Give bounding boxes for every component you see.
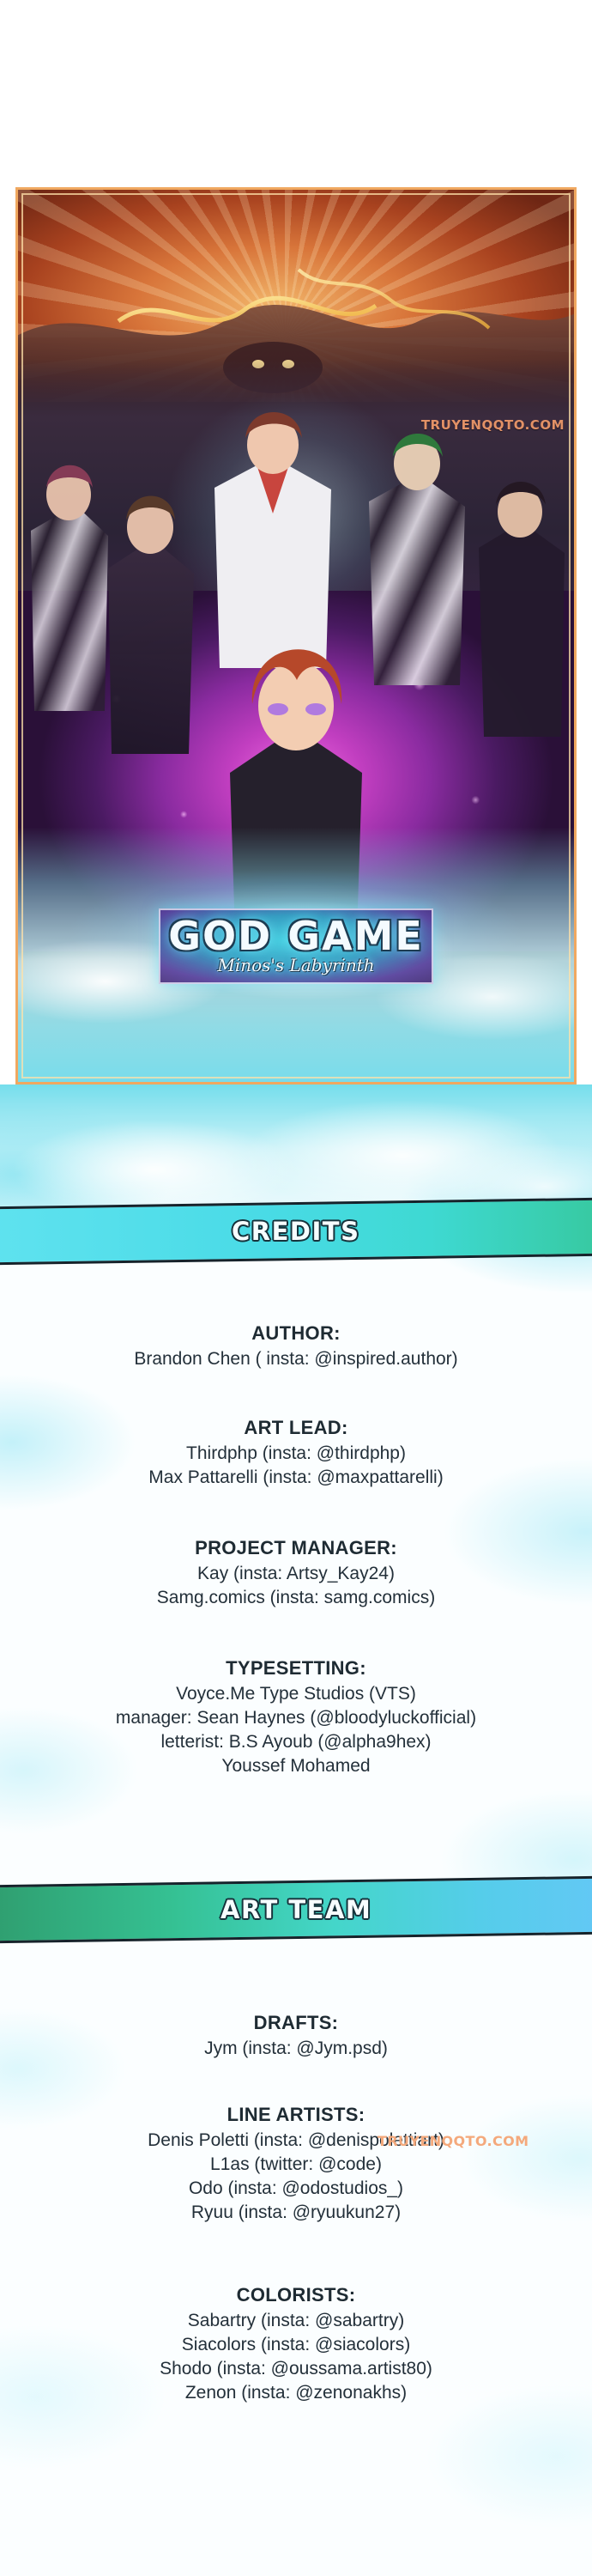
credit-block-line-artists: LINE ARTISTS: Denis Poletti (insta: @den…	[0, 2104, 592, 2225]
credit-block-art-lead: ART LEAD: Thirdphp (insta: @thirdphp) Ma…	[0, 1417, 592, 1490]
credit-line: Thirdphp (insta: @thirdphp)	[0, 1442, 592, 1466]
banner-bar: ART TEAM	[0, 1876, 592, 1944]
credit-block-author: AUTHOR: Brandon Chen ( insta: @inspired.…	[0, 1322, 592, 1371]
credit-heading: ART LEAD:	[0, 1417, 592, 1439]
banner-label-art-team: ART TEAM	[220, 1895, 372, 1924]
credit-heading: PROJECT MANAGER:	[0, 1537, 592, 1559]
credit-block-colorists: COLORISTS: Sabartry (insta: @sabartry) S…	[0, 2284, 592, 2405]
credit-block-typesetting: TYPESETTING: Voyce.Me Type Studios (VTS)…	[0, 1657, 592, 1778]
credit-heading: COLORISTS:	[0, 2284, 592, 2306]
credit-heading: DRAFTS:	[0, 2012, 592, 2034]
credit-heading: LINE ARTISTS:	[0, 2104, 592, 2126]
credit-line: Zenon (insta: @zenonakhs)	[0, 2381, 592, 2405]
section-banner-art-team: ART TEAM	[0, 1872, 592, 1946]
credit-heading: TYPESETTING:	[0, 1657, 592, 1680]
credit-heading: AUTHOR:	[0, 1322, 592, 1345]
top-white-gutter	[0, 0, 592, 187]
credit-line: letterist: B.S Ayoub (@alpha9hex)	[0, 1730, 592, 1754]
series-logo: GOD GAME Minos's Labyrinth	[159, 908, 433, 984]
cover-artwork-panel: GOD GAME Minos's Labyrinth TRUYENQQTO.CO…	[15, 187, 577, 1084]
banner-bar: CREDITS	[0, 1198, 592, 1266]
credit-line: manager: Sean Haynes (@bloodyluckofficia…	[0, 1706, 592, 1730]
credit-line: Shodo (insta: @oussama.artist80)	[0, 2357, 592, 2381]
credit-block-drafts: DRAFTS: Jym (insta: @Jym.psd)	[0, 2012, 592, 2061]
credit-line: Ryuu (insta: @ryuukun27)	[0, 2201, 592, 2225]
credit-line: Youssef Mohamed	[0, 1754, 592, 1778]
section-banner-credits: CREDITS	[0, 1194, 592, 1267]
credit-line: Max Pattarelli (insta: @maxpattarelli)	[0, 1466, 592, 1490]
webtoon-credits-page: GOD GAME Minos's Labyrinth TRUYENQQTO.CO…	[0, 0, 592, 2576]
logo-plate: GOD GAME Minos's Labyrinth	[159, 908, 433, 984]
page-watermark: TRUYENQQTO.COM	[378, 2133, 529, 2149]
credit-line: Kay (insta: Artsy_Kay24)	[0, 1562, 592, 1586]
credit-line: Voyce.Me Type Studios (VTS)	[0, 1682, 592, 1706]
credit-line: Brandon Chen ( insta: @inspired.author)	[0, 1347, 592, 1371]
logo-title: GOD GAME	[166, 919, 426, 953]
banner-label-credits: CREDITS	[232, 1217, 359, 1246]
credit-line: Odo (insta: @odostudios_)	[0, 2177, 592, 2201]
credit-line: Jym (insta: @Jym.psd)	[0, 2037, 592, 2061]
credit-block-project-manager: PROJECT MANAGER: Kay (insta: Artsy_Kay24…	[0, 1537, 592, 1610]
artwork-watermark: TRUYENQQTO.COM	[421, 417, 565, 433]
credit-line: L1as (twitter: @code)	[0, 2153, 592, 2177]
credit-line: Samg.comics (insta: samg.comics)	[0, 1586, 592, 1610]
credit-line: Siacolors (insta: @siacolors)	[0, 2333, 592, 2357]
credit-line: Sabartry (insta: @sabartry)	[0, 2309, 592, 2333]
